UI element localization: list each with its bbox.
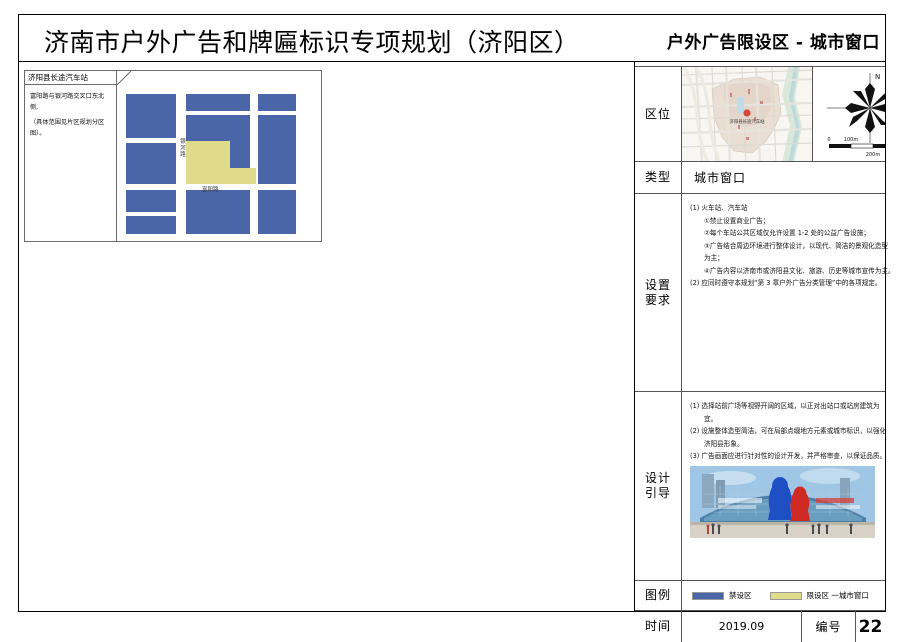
requirement-line: ①禁止设置商业广告； xyxy=(690,215,881,228)
legend-swatch-icon xyxy=(770,592,802,600)
type-row-body: 城市窗口 xyxy=(682,162,885,193)
row-type: 类型 城市窗口 xyxy=(635,162,885,194)
row-label-type: 类型 xyxy=(635,162,682,193)
row-label-requirements: 设置 要求 xyxy=(635,194,682,391)
map-site-highlight-main xyxy=(186,141,230,184)
row-label-design-guidance: 设计 引导 xyxy=(635,392,682,580)
guidance-line: (3) 广告画面应进行针对性的设计开发，并严格审查，以保证品质。 xyxy=(690,450,881,463)
road-label-fuyang: 富阳路 xyxy=(202,185,219,193)
legend-item-restricted: 禁设区 xyxy=(692,590,752,601)
compass-north-label: N xyxy=(875,73,880,81)
row-label-guidance-line2: 引导 xyxy=(645,486,671,501)
site-map-pane: 济阳县长途汽车站 富阳路与银河路交叉口东北侧, （具体范围见片区规划分区图）。 xyxy=(19,62,635,611)
guidance-line: 济阳县形象。 xyxy=(690,438,881,451)
requirement-line: (1) 火车站、汽车站 xyxy=(690,202,881,215)
site-map-canvas: 银河路 富阳路 xyxy=(118,86,320,240)
row-label-requirements-line1: 设置 xyxy=(645,278,671,293)
guidance-row-body: (1) 选择站前广场等视野开阔的区域，以正对出站口或站房建筑为 宜。 (2) 设… xyxy=(682,392,885,580)
compass-and-scale: N xyxy=(813,67,885,161)
locator-map: 济阳县长途汽车站 xyxy=(682,67,813,161)
legend-label: 禁设区 xyxy=(729,590,752,601)
legend-items: 禁设区 限设区 一城市窗口 xyxy=(692,581,869,610)
convention-center-facade-photo xyxy=(690,466,875,538)
guidance-photo-strip xyxy=(690,466,877,538)
row-legend: 图例 禁设区 限设区 一城市窗口 xyxy=(635,581,885,611)
svg-text:100m: 100m xyxy=(844,137,859,143)
map-block xyxy=(258,190,296,234)
site-note-line-2: （具体范围见片区规划分区图）。 xyxy=(30,117,112,139)
requirement-line: ②每个车站公共区域仅允许设置 1-2 处的公益广告设施； xyxy=(690,227,881,240)
row-location: 区位 xyxy=(635,66,885,162)
row-label-requirements-line2: 要求 xyxy=(645,293,671,308)
requirement-line: ④广告内容以济南市或济阳县文化、旅游、历史等城市宣传为主。 xyxy=(690,265,881,278)
legend-label: 限设区 一城市窗口 xyxy=(807,590,869,601)
map-block xyxy=(126,94,176,138)
map-block xyxy=(186,94,250,111)
title-bar: 济南市户外广告和牌匾标识专项规划（济阳区） 户外广告限设区 - 城市窗口 xyxy=(19,15,885,62)
guidance-line: 宜。 xyxy=(690,413,881,426)
map-block xyxy=(126,143,176,184)
requirement-line: ③广告结合周边环境进行整体设计，以现代、简洁的景观化造型 xyxy=(690,240,881,253)
legend-row-body: 禁设区 限设区 一城市窗口 xyxy=(682,581,885,610)
locator-site-label: 济阳县长途汽车站 xyxy=(729,118,765,125)
scale-bar: 0 100m 500m 200m xyxy=(827,137,885,158)
svg-text:200m: 200m xyxy=(866,152,881,158)
site-note-box: 富阳路与银河路交叉口东北侧, （具体范围见片区规划分区图）。 xyxy=(25,85,117,241)
legend-item-limited: 限设区 一城市窗口 xyxy=(770,590,869,601)
requirements-text: (1) 火车站、汽车站 ①禁止设置商业广告； ②每个车站公共区域仅允许设置 1-… xyxy=(690,202,881,290)
location-row-body: 济阳县长途汽车站 N xyxy=(682,67,885,161)
map-block xyxy=(258,94,296,111)
map-block xyxy=(126,190,176,212)
map-site-highlight-tail xyxy=(230,168,256,184)
site-note-line-1: 富阳路与银河路交叉口东北侧, xyxy=(30,91,112,113)
requirement-line: (2) 应同时遵守本规划“第 3 章户外广告分类管理”中的各项规定。 xyxy=(690,277,881,290)
legend-swatch-icon xyxy=(692,592,724,600)
page-title: 济南市户外广告和牌匾标识专项规划（济阳区） xyxy=(44,23,580,59)
header-slant-divider xyxy=(117,71,133,85)
row-design-guidance: 设计 引导 (1) 选择站前广场等视野开阔的区域，以正对出站口或站房建筑为 宜。… xyxy=(635,392,885,581)
requirements-row-body: (1) 火车站、汽车站 ①禁止设置商业广告； ②每个车站公共区域仅允许设置 1-… xyxy=(682,194,885,391)
svg-text:0: 0 xyxy=(827,137,830,143)
plan-sheet: 济南市户外广告和牌匾标识专项规划（济阳区） 户外广告限设区 - 城市窗口 济阳县… xyxy=(18,14,886,612)
map-block xyxy=(258,115,296,184)
guidance-line: (2) 设施整体造型简洁，可在局部点缀地方元素或城市标识，以强化 xyxy=(690,425,881,438)
road-label-yinhe: 银河路 xyxy=(178,138,186,158)
type-value: 城市窗口 xyxy=(694,162,746,193)
map-block xyxy=(126,216,176,234)
info-table: 区位 xyxy=(635,62,885,611)
row-label-guidance-line1: 设计 xyxy=(645,471,671,486)
sheet-body: 济阳县长途汽车站 富阳路与银河路交叉口东北侧, （具体范围见片区规划分区图）。 xyxy=(19,62,885,611)
page-subtitle: 户外广告限设区 - 城市窗口 xyxy=(667,28,880,53)
row-label-legend: 图例 xyxy=(635,581,682,610)
requirement-line: 为主； xyxy=(690,252,881,265)
guidance-line: (1) 选择站前广场等视野开阔的区域，以正对出站口或站房建筑为 xyxy=(690,400,881,413)
guidance-text: (1) 选择站前广场等视野开阔的区域，以正对出站口或站房建筑为 宜。 (2) 设… xyxy=(690,400,881,463)
site-map-header: 济阳县长途汽车站 xyxy=(25,71,117,85)
row-label-location: 区位 xyxy=(635,67,682,161)
site-map-card: 济阳县长途汽车站 富阳路与银河路交叉口东北侧, （具体范围见片区规划分区图）。 xyxy=(24,70,322,242)
map-block xyxy=(186,190,250,234)
site-name-label: 济阳县长途汽车站 xyxy=(28,72,88,84)
row-requirements: 设置 要求 (1) 火车站、汽车站 ①禁止设置商业广告； ②每个车站公共区域仅允… xyxy=(635,194,885,392)
